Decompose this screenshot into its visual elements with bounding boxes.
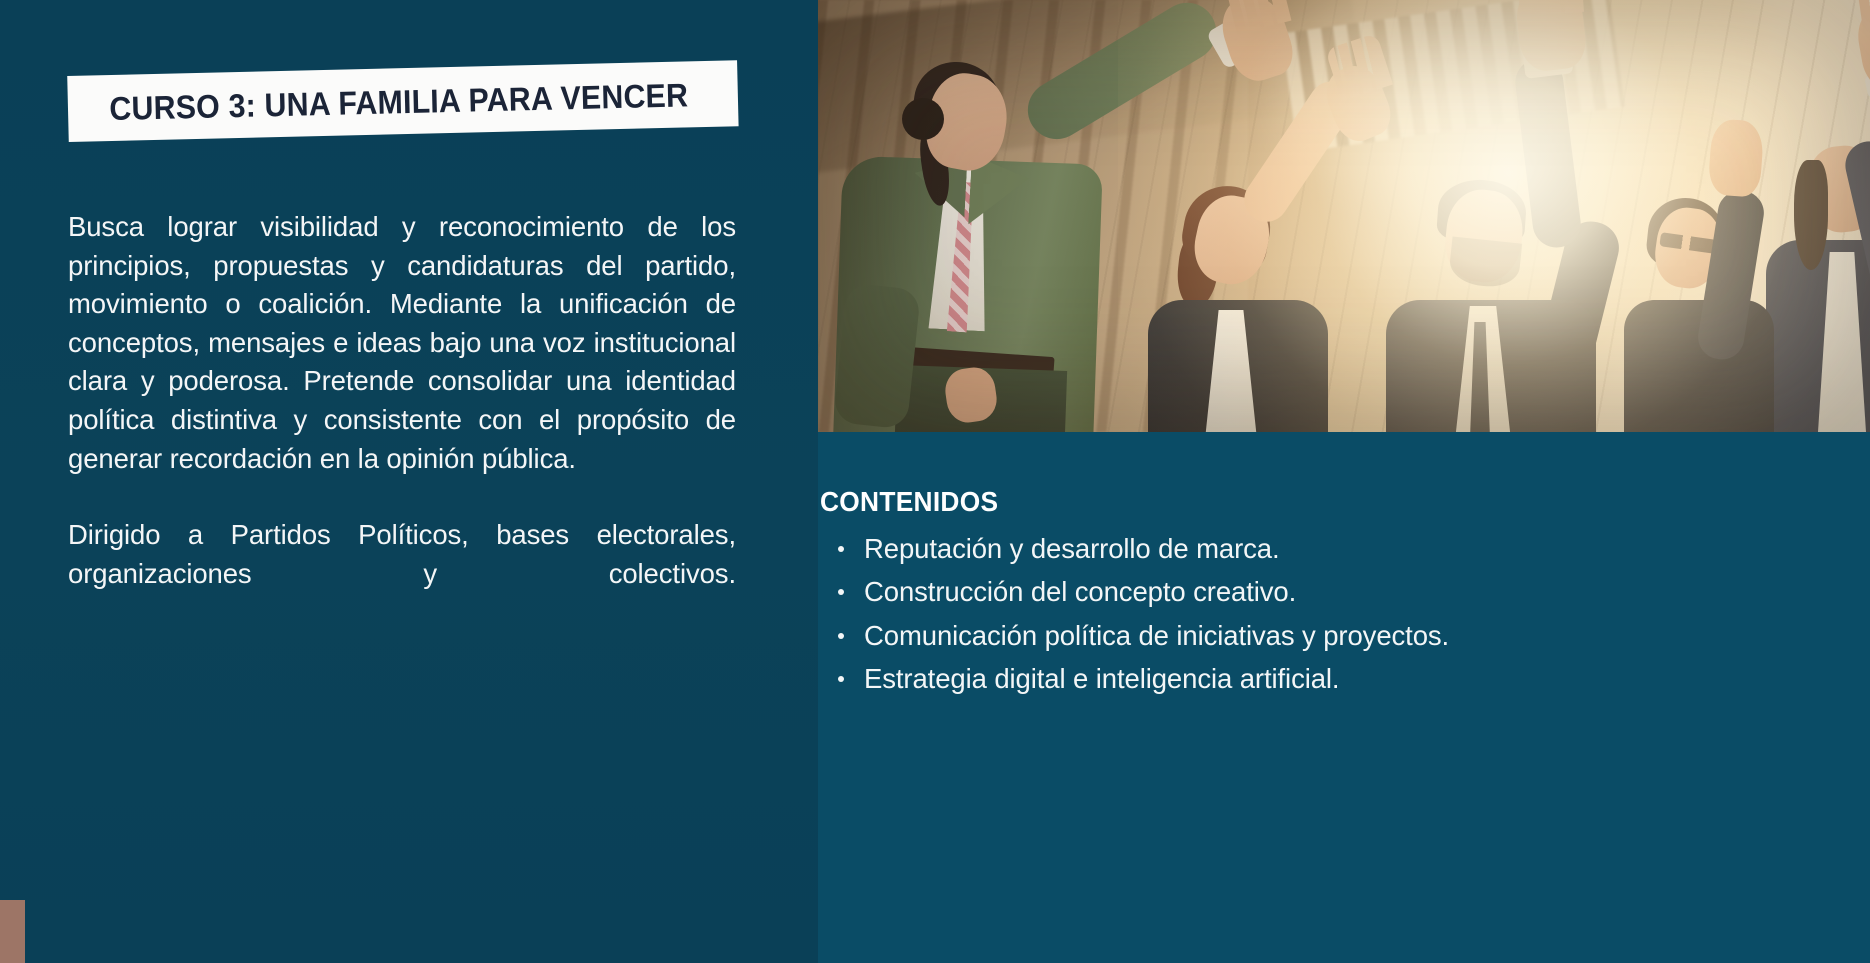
slide-root: CURSO 3: UNA FAMILIA PARA VENCER Busca l… bbox=[0, 0, 1870, 963]
list-item-label: Estrategia digital e inteligencia artifi… bbox=[864, 663, 1339, 694]
bullet-dot-icon bbox=[838, 633, 844, 639]
hero-photo bbox=[818, 0, 1870, 432]
bullet-dot-icon bbox=[838, 546, 844, 552]
list-item-label: Reputación y desarrollo de marca. bbox=[864, 533, 1280, 564]
list-item: Reputación y desarrollo de marca. bbox=[832, 527, 1580, 571]
list-item: Construcción del concepto creativo. bbox=[832, 570, 1580, 614]
bullet-dot-icon bbox=[838, 589, 844, 595]
list-item-label: Construcción del concepto creativo. bbox=[864, 576, 1296, 607]
contenidos-list: Reputación y desarrollo de marca. Constr… bbox=[832, 527, 1580, 701]
paragraph-description: Busca lograr visibilidad y reconocimient… bbox=[68, 208, 736, 478]
list-item: Comunicación política de iniciativas y p… bbox=[832, 614, 1580, 658]
body-copy: Busca lograr visibilidad y reconocimient… bbox=[68, 208, 736, 632]
list-item: Estrategia digital e inteligencia artifi… bbox=[832, 657, 1580, 701]
person-1-hair-bun bbox=[902, 98, 944, 140]
course-title-text: CURSO 3: UNA FAMILIA PARA VENCER bbox=[68, 78, 689, 126]
list-item-label: Comunicación política de iniciativas y p… bbox=[864, 620, 1449, 651]
person-1-lower-arm bbox=[833, 283, 921, 430]
contenidos-heading: CONTENIDOS bbox=[820, 487, 1534, 518]
photo-sun-flare bbox=[1118, 0, 1870, 432]
contenidos-section: CONTENIDOS Reputación y desarrollo de ma… bbox=[820, 487, 1580, 701]
bullet-dot-icon bbox=[838, 676, 844, 682]
paragraph-audience: Dirigido a Partidos Políticos, bases ele… bbox=[68, 516, 736, 632]
accent-block-bottom-left bbox=[0, 900, 25, 963]
